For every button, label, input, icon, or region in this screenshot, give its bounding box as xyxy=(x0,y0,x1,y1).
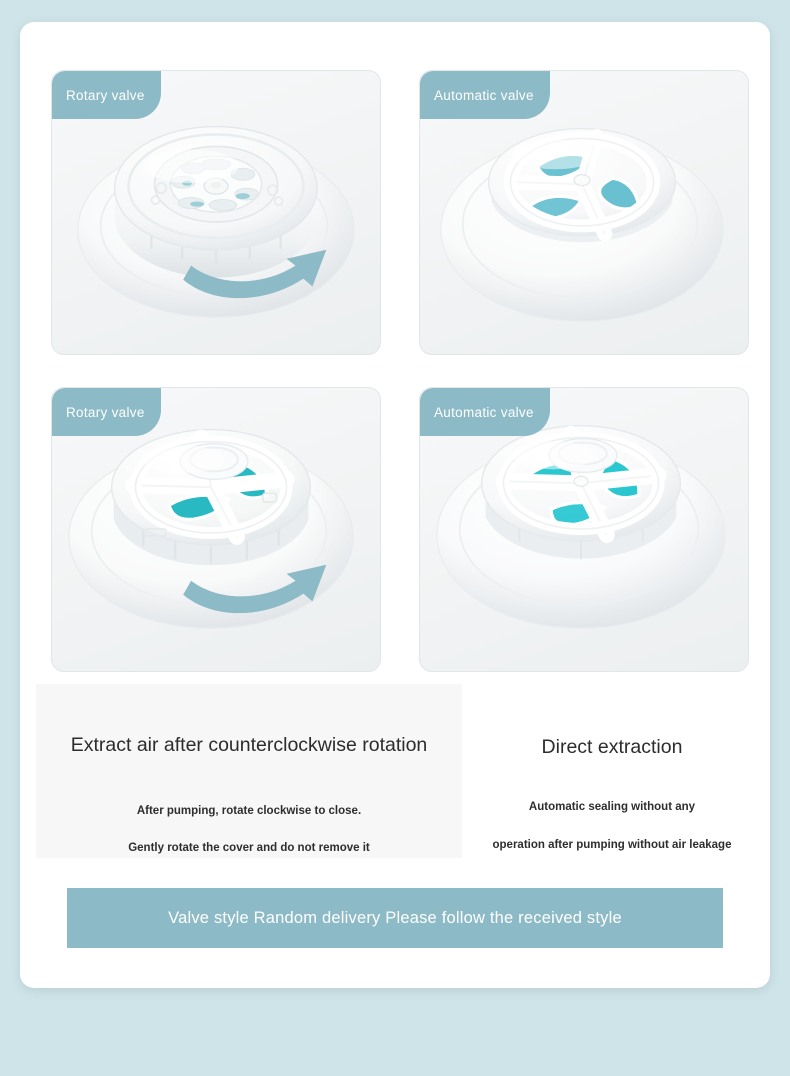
valve-card-automatic-open[interactable]: Automatic valve xyxy=(419,70,749,355)
instruction-column-automatic: Direct extraction Automatic sealing with… xyxy=(462,684,762,858)
automatic-detail-line-2: operation after pumping without air leak… xyxy=(462,840,762,852)
valve-badge-label: Automatic valve xyxy=(420,71,550,119)
rotary-detail-line-1: After pumping, rotate clockwise to close… xyxy=(36,806,462,818)
rotary-detail-line-2: Gently rotate the cover and do not remov… xyxy=(36,843,462,855)
valve-badge-label: Rotary valve xyxy=(52,71,161,119)
random-delivery-banner: Valve style Random delivery Please follo… xyxy=(67,888,723,948)
valve-badge-label: Automatic valve xyxy=(420,388,550,436)
valve-card-rotary-closed[interactable]: Rotary valve xyxy=(51,387,381,672)
valve-image-grid: Rotary valve xyxy=(51,70,751,670)
product-info-card: Rotary valve xyxy=(20,22,770,988)
random-delivery-banner-text: Valve style Random delivery Please follo… xyxy=(168,909,622,928)
rotary-heading: Extract air after counterclockwise rotat… xyxy=(36,736,462,756)
automatic-heading: Direct extraction xyxy=(462,738,762,758)
valve-badge-label: Rotary valve xyxy=(52,388,161,436)
automatic-detail-line-1: Automatic sealing without any xyxy=(462,802,762,814)
instruction-text-row: Extract air after counterclockwise rotat… xyxy=(20,684,770,866)
valve-card-automatic-closed[interactable]: Automatic valve xyxy=(419,387,749,672)
instruction-column-rotary: Extract air after counterclockwise rotat… xyxy=(36,684,462,858)
valve-card-rotary-open[interactable]: Rotary valve xyxy=(51,70,381,355)
